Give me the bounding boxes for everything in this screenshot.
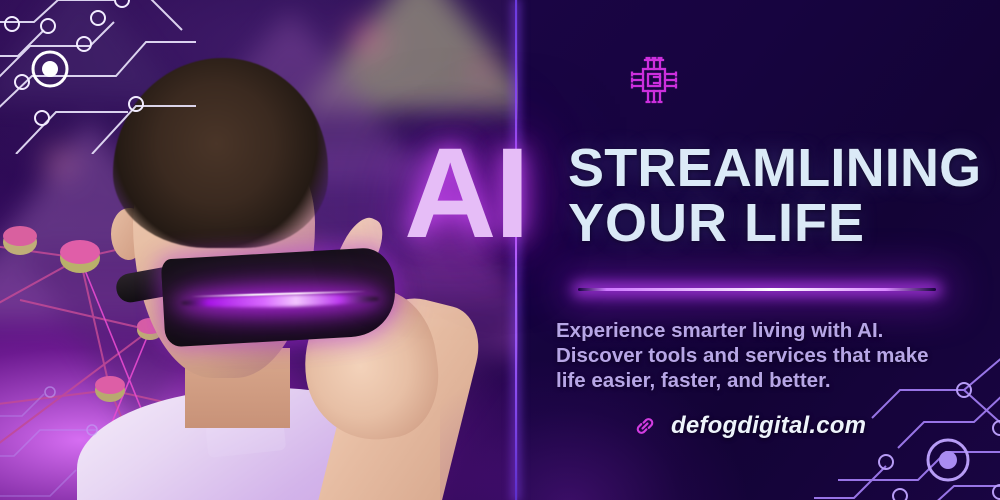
cpu-chip-icon [628,54,680,106]
promo-banner: AI STREAMLINING YOUR LIFE Experience sma… [0,0,1000,500]
body-line-2: Discover tools and services that make [556,343,960,368]
banner-content: AI STREAMLINING YOUR LIFE Experience sma… [0,0,1000,500]
link-icon [632,413,658,439]
website-link[interactable]: defogdigital.com [632,412,866,440]
website-url-text: defogdigital.com [671,412,866,440]
headline-group: AI STREAMLINING YOUR LIFE [404,136,984,276]
body-line-3: life easier, faster, and better. [556,368,960,393]
headline-lines: STREAMLINING YOUR LIFE [568,141,981,251]
headline-line-2: YOUR LIFE [568,196,981,251]
headline-line-1: STREAMLINING [568,141,981,196]
body-line-1: Experience smarter living with AI. [556,318,960,343]
body-copy: Experience smarter living with AI. Disco… [556,318,960,393]
headline-accent-word: AI [404,130,528,258]
glow-divider [578,288,936,291]
